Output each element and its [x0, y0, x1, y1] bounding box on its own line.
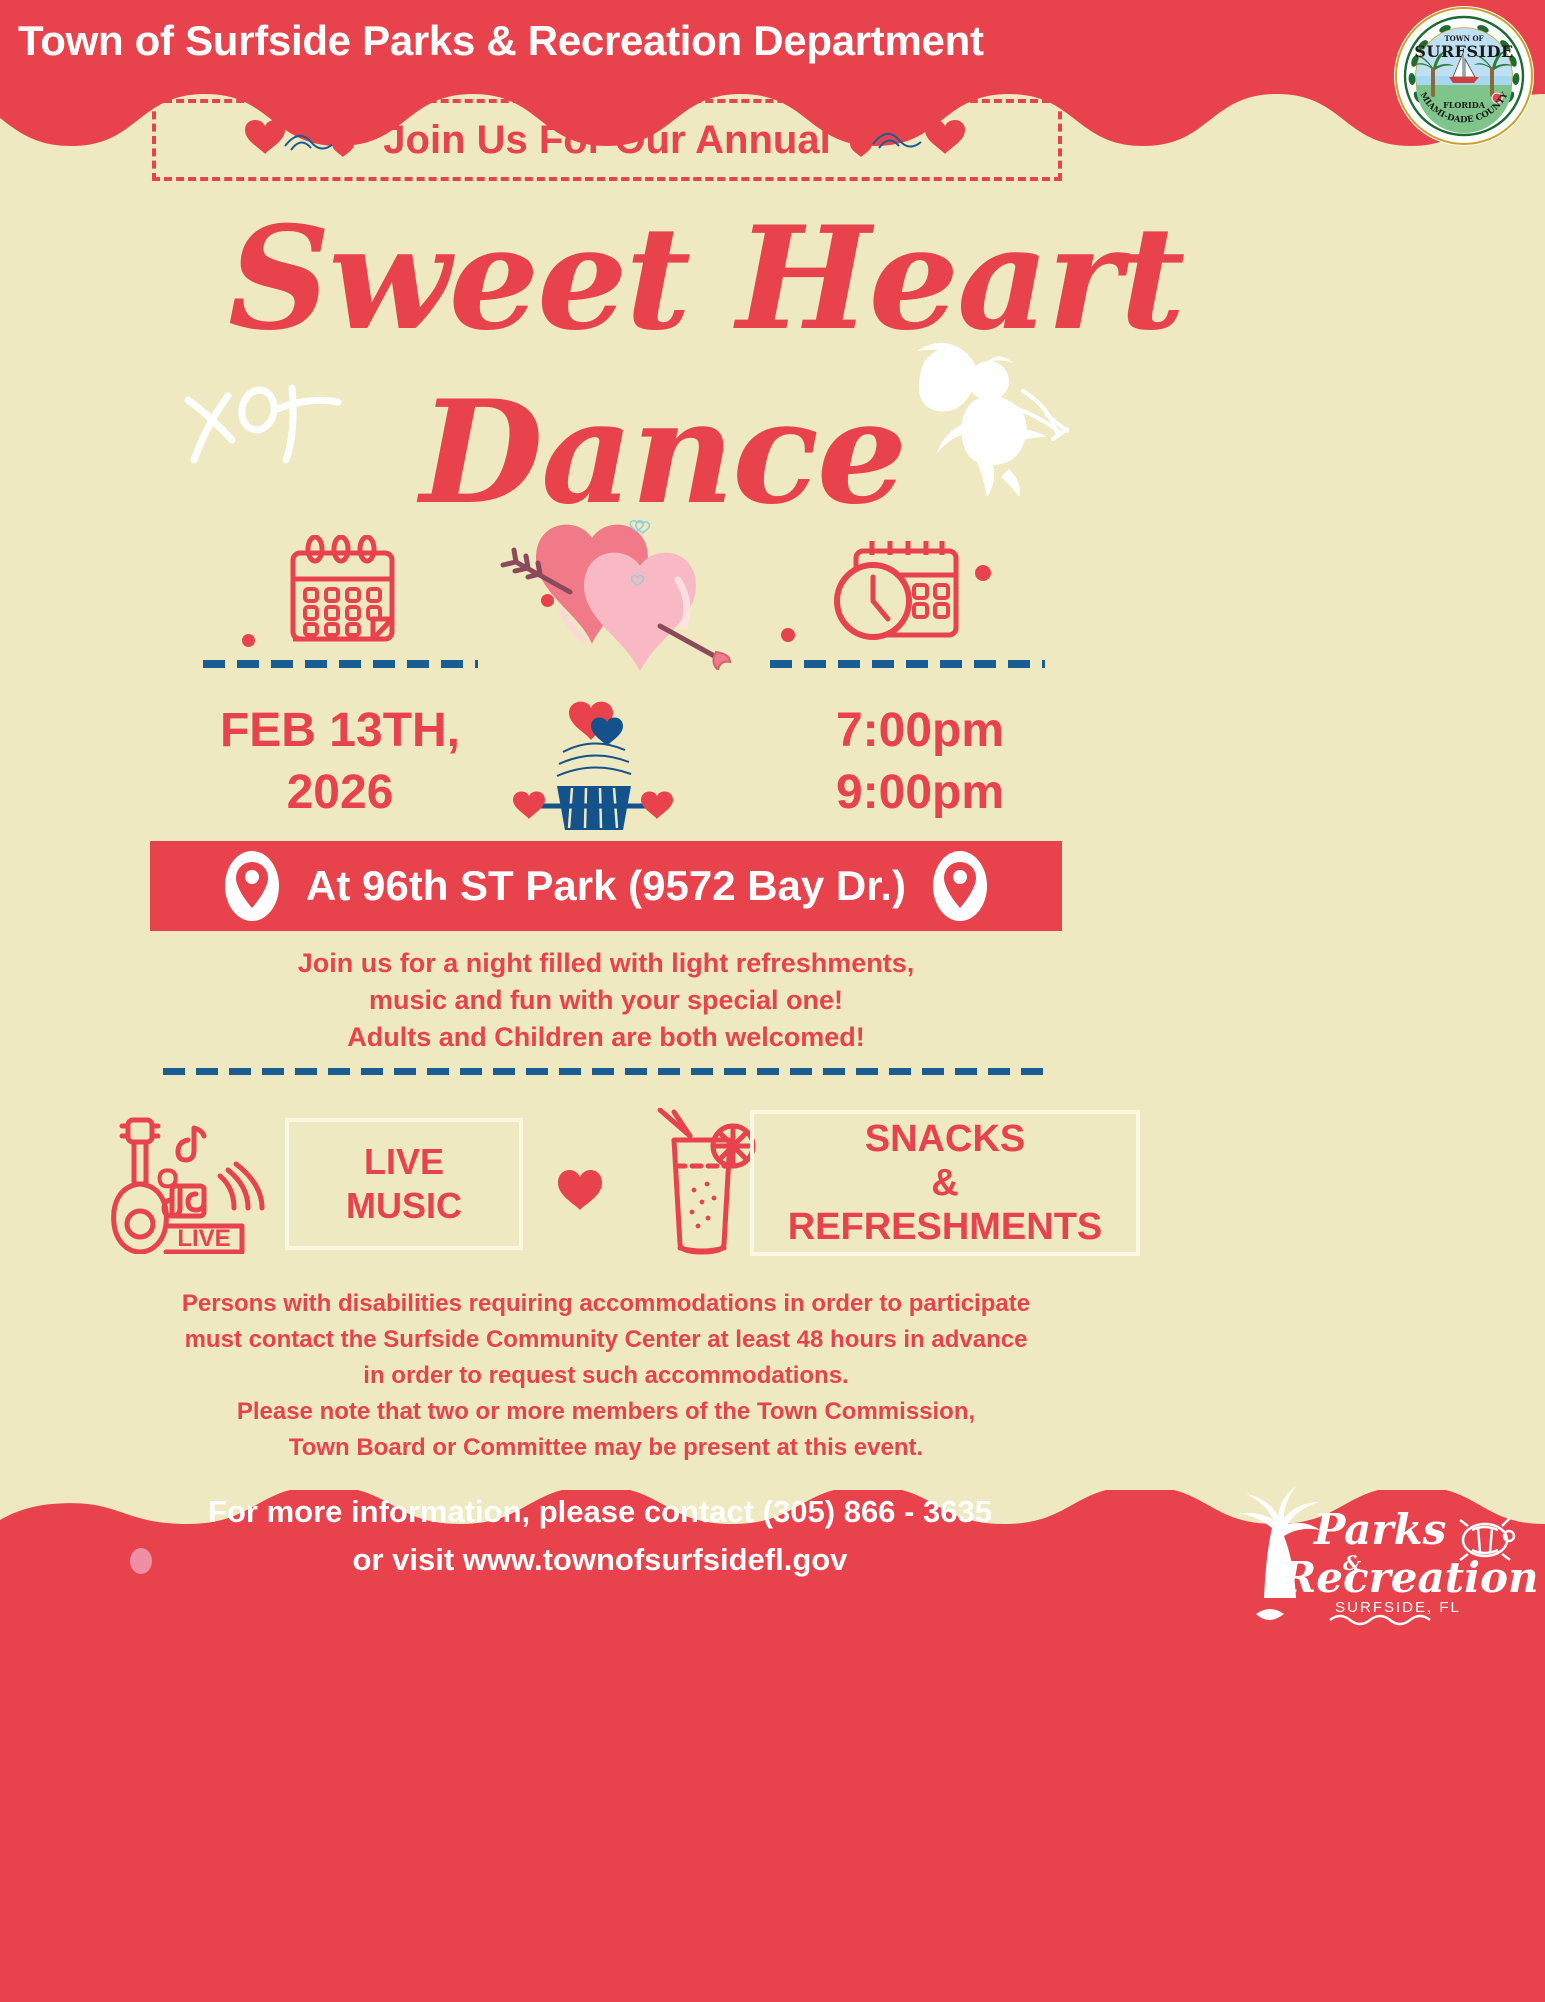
- description-block: Join us for a night filled with light re…: [150, 945, 1062, 1056]
- ada-line4: Please note that two or more members of …: [120, 1394, 1092, 1430]
- logo-recreation-text: Recreation: [1280, 1553, 1538, 1602]
- ada-notice: Persons with disabilities requiring acco…: [120, 1286, 1092, 1466]
- snacks-line1: SNACKS: [865, 1117, 1025, 1161]
- footer-contact-line: For more information, please contact (30…: [120, 1488, 1080, 1536]
- live-music-line1: LIVE: [364, 1140, 444, 1184]
- event-time-line2: 9:00pm: [760, 762, 1080, 824]
- surfside-town-seal-icon: TOWN OF SURFSIDE FLORIDA MIAMI-DADE COUN…: [1393, 5, 1535, 147]
- cupid-angel-icon: [895, 335, 1075, 500]
- refreshment-drink-icon: [650, 1108, 760, 1256]
- parks-recreation-logo: Parks & Recreation SURFSIDE, FL: [1220, 1478, 1540, 1628]
- seal-state-text: FLORIDA: [1443, 100, 1486, 110]
- flyer-canvas: Town of Surfside Parks & Recreation Depa…: [0, 0, 1545, 1999]
- event-time-line1: 7:00pm: [760, 700, 1080, 762]
- dashed-rule-left: [203, 660, 478, 668]
- announcement-text: Join Us For Our Annual: [383, 118, 830, 163]
- hearts-swirl-right-icon: [845, 114, 975, 166]
- description-line2: music and fun with your special one!: [150, 982, 1062, 1019]
- calendar-icon: [285, 535, 400, 645]
- event-date-line1: FEB 13TH,: [180, 700, 500, 762]
- decor-dot: [975, 565, 991, 581]
- seal-name-text: SURFSIDE: [1414, 42, 1513, 61]
- hearts-swirl-left-icon: [239, 114, 369, 166]
- live-music-line2: MUSIC: [346, 1184, 462, 1228]
- logo-parks-text: Parks: [1313, 1505, 1447, 1554]
- event-title-line2: Dance: [420, 370, 905, 536]
- dashed-divider: [163, 1068, 1043, 1075]
- ada-line3: in order to request such accommodations.: [120, 1358, 1092, 1394]
- footer-website-line: or visit www.townofsurfsidefl.gov: [120, 1536, 1080, 1584]
- map-pin-left-icon: [224, 850, 280, 922]
- ada-line1: Persons with disabilities requiring acco…: [120, 1286, 1092, 1322]
- decor-dot-pink: [130, 1548, 152, 1574]
- logo-city-text: SURFSIDE, FL: [1335, 1599, 1461, 1616]
- cupcake-icon: [505, 690, 685, 835]
- event-time: 7:00pm 9:00pm: [760, 700, 1080, 824]
- ada-line2: must contact the Surfside Community Cent…: [120, 1322, 1092, 1358]
- small-heart-icon: [558, 1168, 602, 1210]
- description-line1: Join us for a night filled with light re…: [150, 945, 1062, 982]
- description-line3: Adults and Children are both welcomed!: [150, 1019, 1062, 1056]
- clock-calendar-icon: [828, 535, 968, 645]
- footer-contact: For more information, please contact (30…: [120, 1488, 1080, 1584]
- event-date: FEB 13TH, 2026: [180, 700, 500, 824]
- event-date-line2: 2026: [180, 762, 500, 824]
- snacks-line2: &: [931, 1161, 958, 1205]
- live-badge-label: LIVE: [177, 1225, 230, 1252]
- decor-dot: [541, 594, 554, 607]
- two-hearts-with-arrow-icon: [500, 520, 760, 670]
- announcement-row: Join Us For Our Annual: [152, 99, 1062, 181]
- decor-dot: [242, 634, 255, 647]
- location-text: At 96th ST Park (9572 Bay Dr.): [306, 862, 906, 910]
- live-music-label: LIVE MUSIC: [285, 1118, 523, 1250]
- page-title: Town of Surfside Parks & Recreation Depa…: [18, 6, 1088, 76]
- location-row: At 96th ST Park (9572 Bay Dr.): [150, 841, 1062, 931]
- dashed-rule-right: [770, 660, 1045, 668]
- xoxo-doodle-icon: [170, 370, 350, 490]
- decor-dot: [781, 628, 795, 642]
- snacks-label: SNACKS & REFRESHMENTS: [750, 1110, 1140, 1256]
- map-pin-right-icon: [932, 850, 988, 922]
- live-music-guitar-icon: LIVE: [110, 1112, 275, 1254]
- ada-line5: Town Board or Committee may be present a…: [120, 1430, 1092, 1466]
- snacks-line3: REFRESHMENTS: [788, 1205, 1103, 1249]
